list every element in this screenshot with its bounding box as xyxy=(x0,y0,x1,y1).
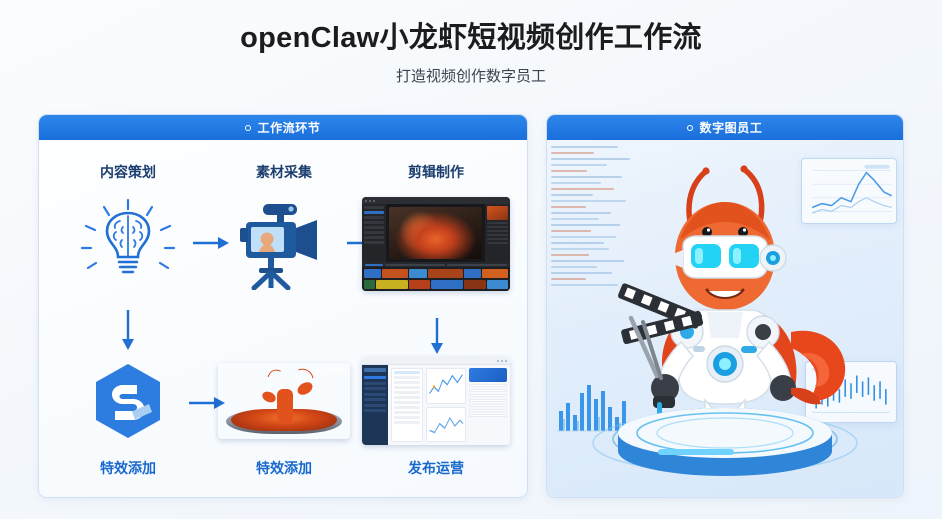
workflow-row-bottom: 特效添加 xyxy=(39,352,527,498)
step-label: 剪辑制作 xyxy=(361,162,511,182)
analytics-dashboard-screenshot xyxy=(362,357,510,445)
brain-lightbulb-icon xyxy=(76,196,180,292)
digital-employee-panel-header: 数字图员工 xyxy=(547,115,903,140)
arrow-editing-to-publish xyxy=(428,316,446,356)
crawfish-dish-photo xyxy=(218,363,350,439)
page-header: openClaw小龙虾短视频创作工作流 打造视频创作数字员工 xyxy=(0,0,942,86)
arrow-planning-to-effects xyxy=(119,308,137,352)
workflow-step-publish-operations[interactable]: 发布运营 xyxy=(361,352,511,478)
mascot-scene xyxy=(547,140,903,497)
workflow-panel: 工作流环节 内容策划 xyxy=(38,114,528,498)
step-label: 特效添加 xyxy=(53,458,203,478)
step-label: 特效添加 xyxy=(209,458,359,478)
workflow-panel-title: 工作流环节 xyxy=(257,119,320,136)
panels-container: 工作流环节 内容策划 xyxy=(38,114,904,498)
circle-dot-icon xyxy=(687,125,693,131)
step-art xyxy=(53,352,203,450)
page-subtitle: 打造视频创作数字员工 xyxy=(0,65,942,86)
step-art xyxy=(361,352,511,450)
page-title: openClaw小龙虾短视频创作工作流 xyxy=(0,22,942,55)
step-label: 素材采集 xyxy=(209,162,359,182)
video-editor-screenshot xyxy=(362,197,510,291)
line-chart-mini-2 xyxy=(427,408,465,442)
step-art xyxy=(209,190,359,298)
workflow-step-video-editing[interactable]: 剪辑制作 xyxy=(361,162,511,298)
digital-employee-panel-title: 数字图员工 xyxy=(699,119,762,136)
hexagon-s-logo-icon xyxy=(91,361,165,441)
digital-employee-panel-body xyxy=(547,140,903,497)
workflow-panel-body: 内容策划 xyxy=(39,140,527,497)
step-label: 内容策划 xyxy=(53,162,203,182)
workflow-step-material-capture[interactable]: 素材采集 xyxy=(209,162,359,298)
workflow-step-content-planning[interactable]: 内容策划 xyxy=(53,162,203,298)
workflow-row-top: 内容策划 xyxy=(39,162,527,312)
workflow-step-effects-tool[interactable]: 特效添加 xyxy=(53,352,203,478)
step-art xyxy=(53,190,203,298)
line-chart-mini xyxy=(427,369,465,403)
step-art xyxy=(361,190,511,298)
glowing-platform xyxy=(580,397,870,481)
workflow-step-effects-preview[interactable]: 特效添加 xyxy=(209,352,359,478)
workflow-panel-header: 工作流环节 xyxy=(39,115,527,140)
video-camera-tripod-icon xyxy=(235,198,333,290)
step-art xyxy=(209,352,359,450)
digital-employee-panel: 数字图员工 xyxy=(546,114,904,498)
step-label: 发布运营 xyxy=(361,458,511,478)
circle-dot-icon xyxy=(245,125,251,131)
